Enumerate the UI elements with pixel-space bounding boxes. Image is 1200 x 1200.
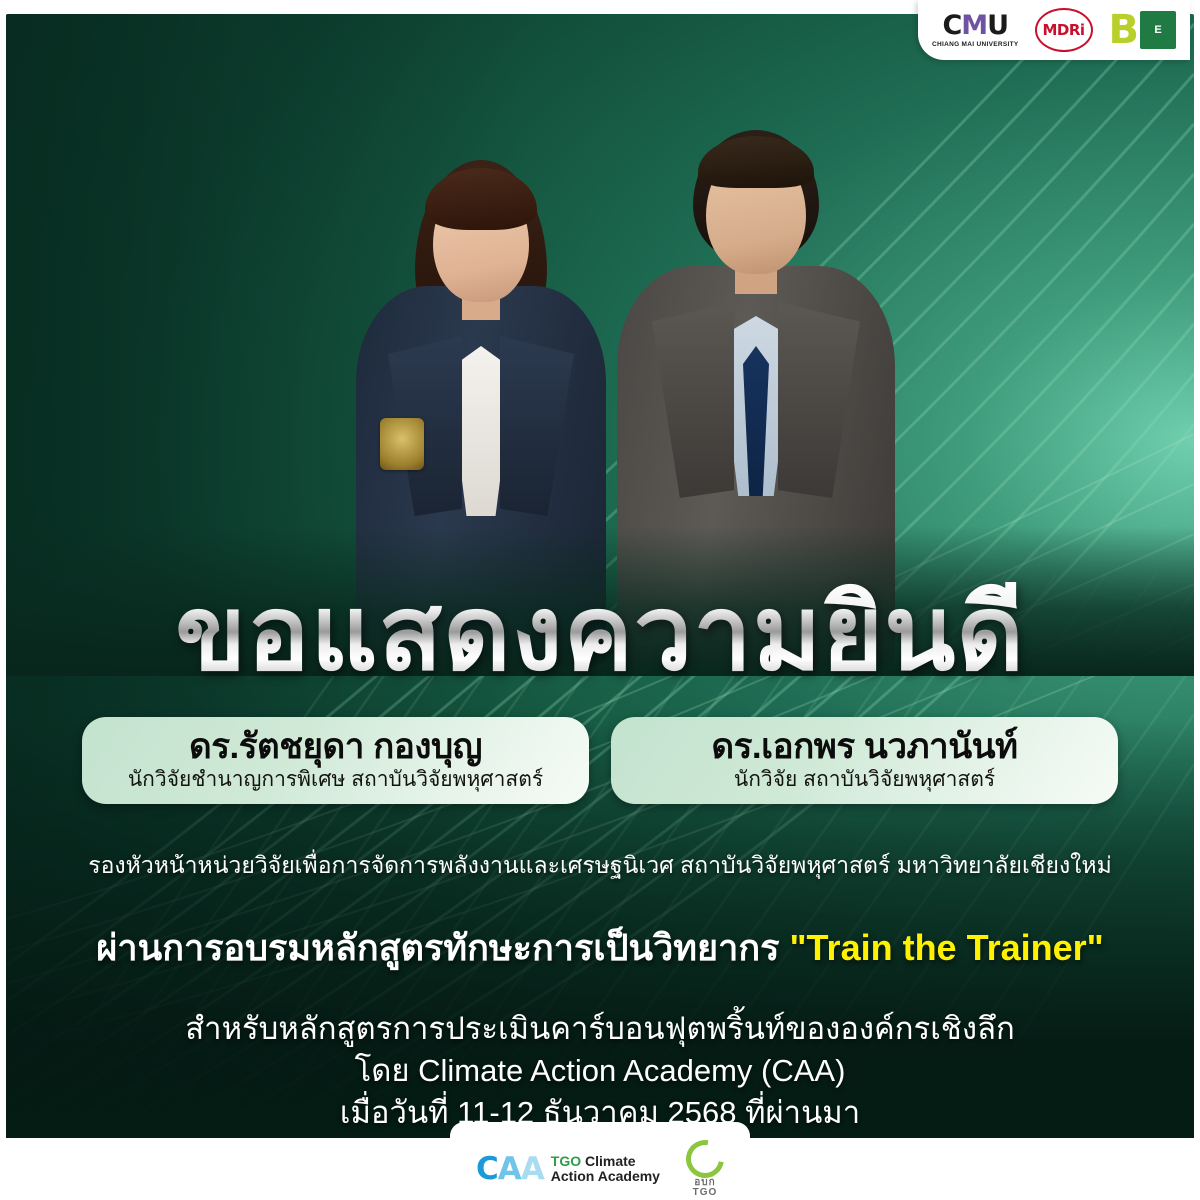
detail-line-1: สำหรับหลักสูตรการประเมินคาร์บอนฟุตพริ้นท… (46, 1008, 1154, 1050)
tgo-logo: อบก TGO (686, 1140, 724, 1199)
honoree-card: ดร.รัตชยุดา กองบุญ นักวิจัยชำนาญการพิเศษ… (82, 717, 589, 804)
honoree-cards: ดร.รัตชยุดา กองบุญ นักวิจัยชำนาญการพิเศษ… (82, 717, 1118, 804)
caa-climate-word: Climate (581, 1153, 635, 1169)
footer-notch (450, 1122, 750, 1138)
cmu-letter-u: U (987, 10, 1008, 41)
woman-fringe (425, 168, 537, 230)
honoree-card: ดร.เอกพร นวภานันท์ นักวิจัย สถาบันวิจัยพ… (611, 717, 1118, 804)
honoree-name: ดร.รัตชยุดา กองบุญ (96, 727, 575, 766)
man-fringe (698, 136, 814, 188)
detail-line-2: โดย Climate Action Academy (CAA) (46, 1050, 1154, 1092)
caa-wordmark: CAA (476, 1154, 544, 1185)
caa-letter-c: C (476, 1151, 498, 1187)
caa-tagline: TGO Climate Action Academy (551, 1154, 660, 1184)
be-letter-b: B (1109, 10, 1140, 50)
cmu-letter-m: M (961, 10, 987, 41)
mdri-logo: MDRi (1035, 8, 1093, 52)
course-headline: ผ่านการอบรมหลักสูตรทักษะการเป็นวิทยากร "… (36, 926, 1164, 969)
honoree-name: ดร.เอกพร นวภานันท์ (625, 727, 1104, 766)
affiliation-text: รองหัวหน้าหน่วยวิจัยเพื่อการจัดการพลังงา… (46, 852, 1154, 880)
course-thai-text: ผ่านการอบรมหลักสูตรทักษะการเป็นวิทยากร (96, 927, 779, 968)
course-detail: สำหรับหลักสูตรการประเมินคาร์บอนฟุตพริ้นท… (46, 1008, 1154, 1134)
header-logo-bar: CMU CHIANG MAI UNIVERSITY MDRi B E (918, 0, 1190, 60)
tgo-circle-icon (679, 1132, 732, 1185)
course-english-title: "Train the Trainer" (789, 927, 1103, 968)
be-letter-e: E (1140, 11, 1176, 49)
caa-tgo-word: TGO (551, 1153, 581, 1169)
caa-letter-a2: A (521, 1151, 544, 1187)
be-logo: B E (1109, 9, 1177, 51)
caa-letter-a1: A (498, 1151, 521, 1187)
woman-crest-badge (380, 418, 424, 470)
caa-tagline-line-1: TGO Climate (551, 1154, 660, 1169)
honoree-role: นักวิจัย สถาบันวิจัยพหุศาสตร์ (625, 767, 1104, 792)
cmu-logo: CMU CHIANG MAI UNIVERSITY (932, 12, 1018, 49)
honoree-role: นักวิจัยชำนาญการพิเศษ สถาบันวิจัยพหุศาสต… (96, 767, 575, 792)
footer-logo-bar: CAA TGO Climate Action Academy อบก TGO (0, 1138, 1200, 1200)
poster-stage: ขอแสดงความยินดี ดร.รัตชยุดา กองบุญ นักวิ… (6, 14, 1194, 1138)
page-title: ขอแสดงความยินดี (6, 582, 1194, 686)
caa-tagline-line-2: Action Academy (551, 1169, 660, 1184)
congratulations-poster: ขอแสดงความยินดี ดร.รัตชยุดา กองบุญ นักวิ… (0, 0, 1200, 1200)
caa-logo: CAA TGO Climate Action Academy (476, 1154, 660, 1185)
tgo-abbr-label: TGO (693, 1188, 718, 1199)
cmu-wordmark: CMU (942, 12, 1008, 39)
cmu-letter-c: C (942, 10, 961, 41)
cmu-subtitle: CHIANG MAI UNIVERSITY (932, 42, 1018, 49)
